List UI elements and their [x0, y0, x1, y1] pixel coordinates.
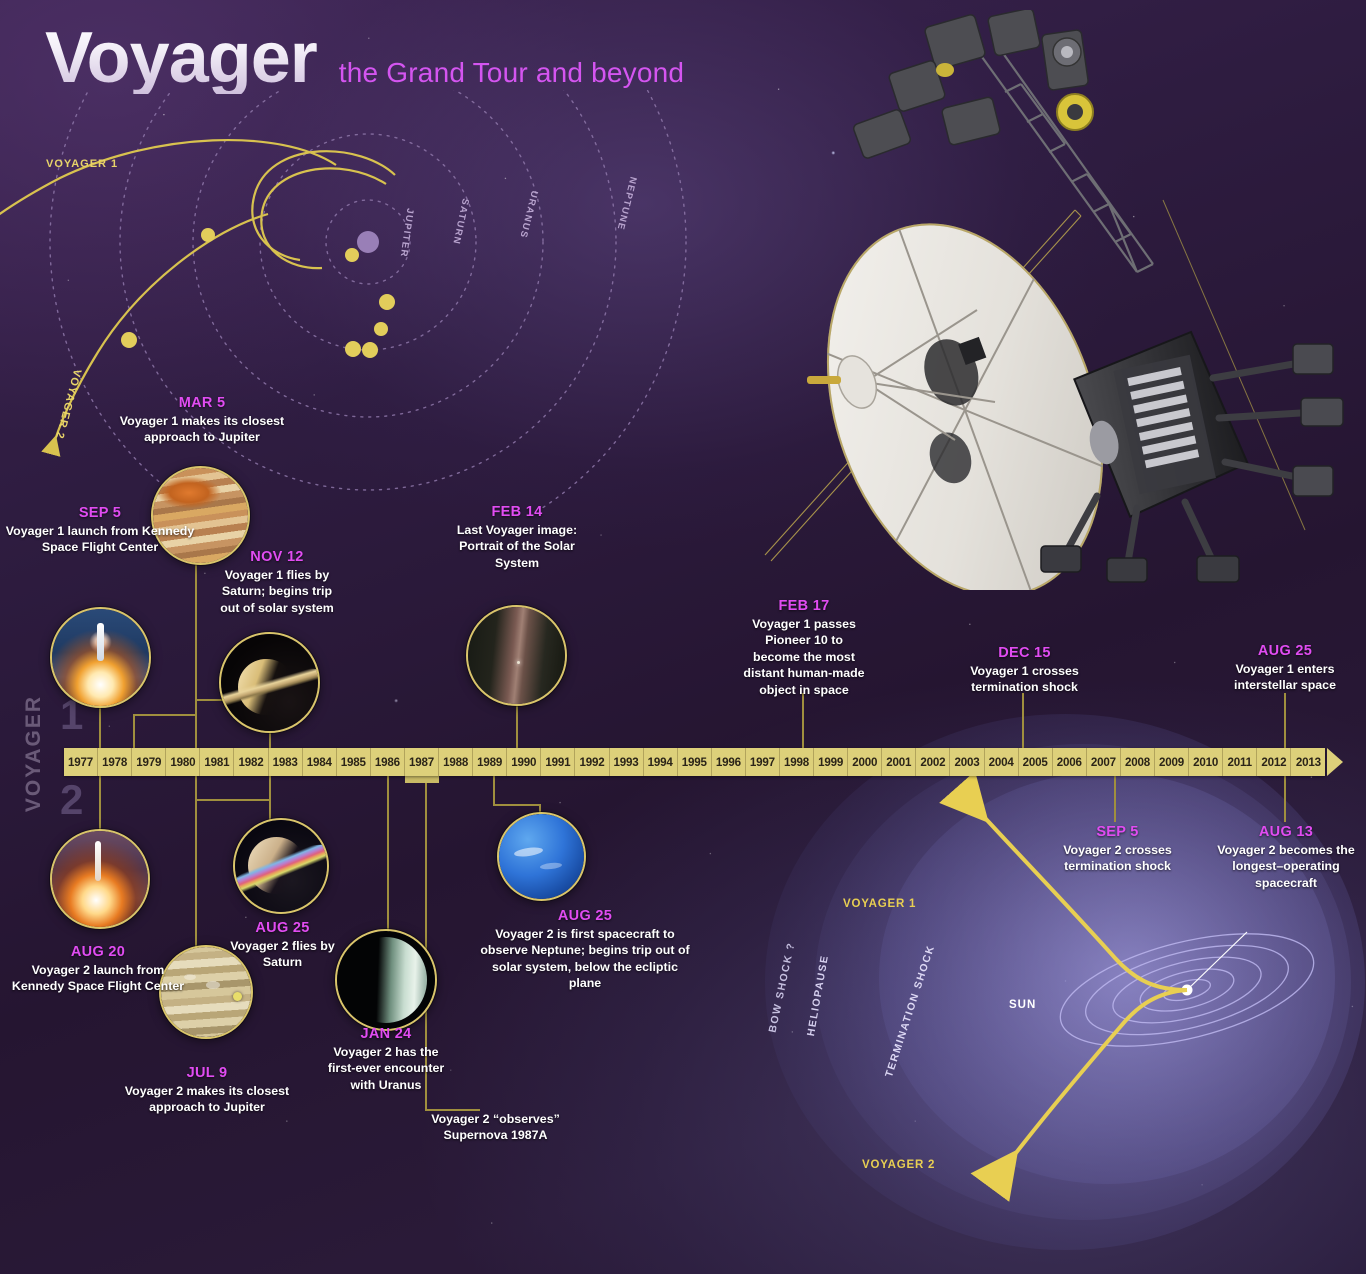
annotation-date: SEP 5: [1045, 824, 1190, 840]
annotation-body: Voyager 2 is first spacecraft to observe…: [480, 926, 690, 992]
annotation-body: Voyager 2 becomes the longest–operating …: [1208, 842, 1364, 891]
annotation-v2-launch: AUG 20 Voyager 2 launch from Kennedy Spa…: [8, 944, 188, 995]
infographic-canvas: Voyager the Grand Tour and beyond .orb {…: [0, 0, 1366, 1274]
annotation-date: DEC 15: [952, 645, 1097, 661]
annotation-date: AUG 20: [8, 944, 188, 960]
photo-saturn-false-color: [233, 818, 329, 914]
timeline-year-1990[interactable]: 1990: [507, 748, 541, 776]
timeline-year-1985[interactable]: 1985: [337, 748, 371, 776]
helio-sun-label: SUN: [1009, 999, 1036, 1011]
page-subtitle: the Grand Tour and beyond: [339, 57, 684, 89]
annotation-body: Voyager 1 flies by Saturn; begins trip o…: [212, 567, 342, 616]
timeline-year-2003[interactable]: 2003: [950, 748, 984, 776]
annotation-v1-termination-shock: DEC 15 Voyager 1 crosses termination sho…: [952, 645, 1097, 696]
timeline-year-2008[interactable]: 2008: [1121, 748, 1155, 776]
annotation-v1-saturn: NOV 12 Voyager 1 flies by Saturn; begins…: [212, 549, 342, 616]
annotation-body: Voyager 1 launch from Kennedy Space Flig…: [5, 523, 195, 556]
annotation-v2-saturn: AUG 25 Voyager 2 flies by Saturn: [215, 920, 350, 971]
annotation-v2-jupiter: JUL 9 Voyager 2 makes its closest approa…: [116, 1065, 298, 1116]
timeline-year-1988[interactable]: 1988: [439, 748, 473, 776]
annotation-v2-uranus: JAN 24 Voyager 2 has the first-ever enco…: [326, 1026, 446, 1093]
timeline-year-1986[interactable]: 1986: [371, 748, 405, 776]
timeline-year-1991[interactable]: 1991: [541, 748, 575, 776]
annotation-date: MAR 5: [102, 395, 302, 411]
photo-neptune: [497, 812, 586, 901]
voyager-spacecraft-illustration: [745, 10, 1365, 590]
annotation-v1-launch: SEP 5 Voyager 1 launch from Kennedy Spac…: [5, 505, 195, 556]
header: Voyager the Grand Tour and beyond: [45, 22, 684, 94]
timeline-year-1981[interactable]: 1981: [200, 748, 234, 776]
photo-voyager2-launch: [50, 829, 150, 929]
annotation-v2-neptune: AUG 25 Voyager 2 is first spacecraft to …: [480, 908, 690, 992]
annotation-body: Voyager 1 makes its closest approach to …: [102, 413, 302, 446]
annotation-body: Voyager 2 makes its closest approach to …: [116, 1083, 298, 1116]
timeline-year-2006[interactable]: 2006: [1053, 748, 1087, 776]
annotation-body: Voyager 2 flies by Saturn: [215, 938, 350, 971]
timeline-year-2004[interactable]: 2004: [985, 748, 1019, 776]
annotation-date: AUG 25: [1212, 643, 1358, 659]
annotation-v1-interstellar: AUG 25 Voyager 1 enters interstellar spa…: [1212, 643, 1358, 694]
annotation-body: Voyager 2 launch from Kennedy Space Flig…: [8, 962, 188, 995]
annotation-date: FEB 14: [453, 504, 581, 520]
timeline-year-1998[interactable]: 1998: [780, 748, 814, 776]
helio-voyager2-label: VOYAGER 2: [862, 1159, 935, 1171]
annotation-body: Voyager 1 crosses termination shock: [952, 663, 1097, 696]
timeline-rail-voyager-2: 2: [60, 779, 83, 821]
timeline-highlight-tab-1987: [405, 776, 439, 783]
timeline-year-1987[interactable]: 1987: [405, 748, 439, 776]
timeline-year-1983[interactable]: 1983: [269, 748, 303, 776]
heliosphere-diagram: BOW SHOCK ? HELIOPAUSE TERMINATION SHOCK: [735, 690, 1366, 1274]
annotation-body: Voyager 2 has the first-ever encounter w…: [326, 1044, 446, 1093]
timeline-year-2012[interactable]: 2012: [1257, 748, 1291, 776]
annotation-date: AUG 25: [215, 920, 350, 936]
timeline-year-2013[interactable]: 2013: [1291, 748, 1325, 776]
timeline-year-2007[interactable]: 2007: [1087, 748, 1121, 776]
timeline-year-2005[interactable]: 2005: [1019, 748, 1053, 776]
timeline-year-2000[interactable]: 2000: [848, 748, 882, 776]
timeline-year-1995[interactable]: 1995: [678, 748, 712, 776]
timeline-year-2011[interactable]: 2011: [1223, 748, 1257, 776]
photo-pale-blue-dot: [466, 605, 567, 706]
timeline-year-1989[interactable]: 1989: [473, 748, 507, 776]
timeline-year-1993[interactable]: 1993: [610, 748, 644, 776]
timeline-year-1996[interactable]: 1996: [712, 748, 746, 776]
photo-voyager1-launch: [50, 607, 151, 708]
photo-uranus-crescent: [335, 929, 437, 1031]
timeline-year-1977[interactable]: 1977: [64, 748, 98, 776]
annotation-date: NOV 12: [212, 549, 342, 565]
annotation-v1-pioneer10: FEB 17 Voyager 1 passes Pioneer 10 to be…: [740, 598, 868, 698]
annotation-body: Last Voyager image: Portrait of the Sola…: [453, 522, 581, 571]
timeline-year-2002[interactable]: 2002: [916, 748, 950, 776]
timeline-year-1978[interactable]: 1978: [98, 748, 132, 776]
timeline-year-2009[interactable]: 2009: [1155, 748, 1189, 776]
helio-voyager1-label: VOYAGER 1: [843, 898, 916, 910]
annotation-date: AUG 13: [1208, 824, 1364, 840]
annotation-date: JAN 24: [326, 1026, 446, 1042]
timeline-year-1997[interactable]: 1997: [746, 748, 780, 776]
annotation-date: FEB 17: [740, 598, 868, 614]
timeline-year-1979[interactable]: 1979: [132, 748, 166, 776]
annotation-date: SEP 5: [5, 505, 195, 521]
photo-saturn-crescent: [219, 632, 320, 733]
annotation-body: Voyager 2 crosses termination shock: [1045, 842, 1190, 875]
timeline-rail-word: VOYAGER: [22, 695, 46, 812]
timeline-year-1982[interactable]: 1982: [234, 748, 268, 776]
trajectory-label-voyager-1: VOYAGER 1: [46, 158, 118, 170]
timeline-arrow-head: [1327, 748, 1343, 776]
annotation-v2-longest-operating: AUG 13 Voyager 2 becomes the longest–ope…: [1208, 824, 1364, 891]
annotation-v1-jupiter: MAR 5 Voyager 1 makes its closest approa…: [102, 395, 302, 446]
timeline-year-1984[interactable]: 1984: [303, 748, 337, 776]
annotation-body: Voyager 1 passes Pioneer 10 to become th…: [740, 616, 868, 698]
timeline-year-2010[interactable]: 2010: [1189, 748, 1223, 776]
timeline-bar[interactable]: 1977197819791980198119821983198419851986…: [64, 748, 1325, 776]
timeline-year-1992[interactable]: 1992: [575, 748, 609, 776]
annotation-v2-termination-shock: SEP 5 Voyager 2 crosses termination shoc…: [1045, 824, 1190, 875]
annotation-body: Voyager 1 enters interstellar space: [1212, 661, 1358, 694]
annotation-body: Voyager 2 “observes” Supernova 1987A: [428, 1111, 563, 1144]
timeline-year-2001[interactable]: 2001: [882, 748, 916, 776]
timeline-year-1980[interactable]: 1980: [166, 748, 200, 776]
timeline-year-1994[interactable]: 1994: [644, 748, 678, 776]
annotation-v2-supernova: Voyager 2 “observes” Supernova 1987A: [428, 1111, 563, 1144]
timeline-year-1999[interactable]: 1999: [814, 748, 848, 776]
page-title: Voyager: [45, 22, 317, 94]
grand-tour-orbit-diagram: .orb { fill:none; stroke:#8d76a8; stroke…: [0, 90, 700, 510]
annotation-date: AUG 25: [480, 908, 690, 924]
annotation-date: JUL 9: [116, 1065, 298, 1081]
annotation-v1-family-portrait: FEB 14 Last Voyager image: Portrait of t…: [453, 504, 581, 571]
